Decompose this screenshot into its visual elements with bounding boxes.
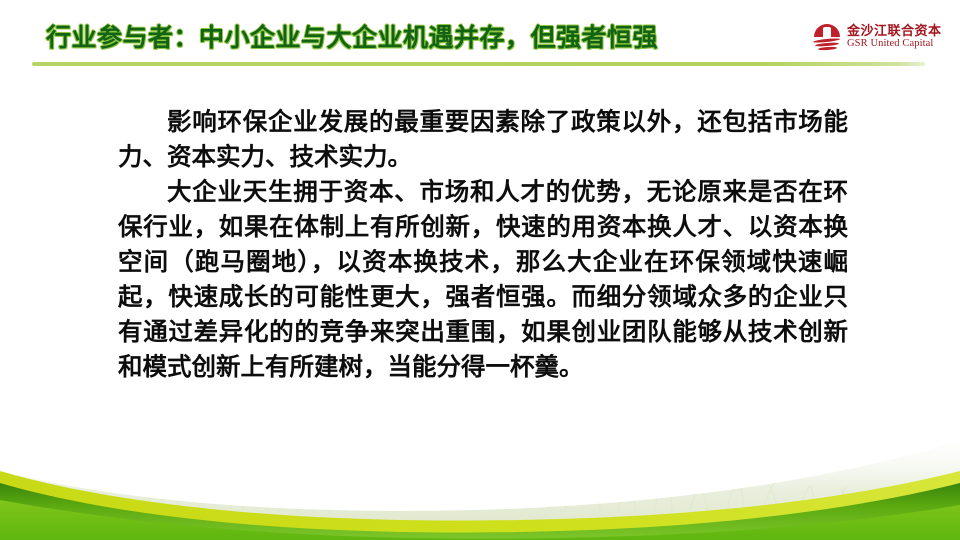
slide-body-text: 影响环保企业发展的最重要因素除了政策以外，还包括市场能力、资本实力、技术实力。 … bbox=[118, 104, 848, 384]
logo-wordmark: 金沙江联合资本 GSR United Capital bbox=[847, 25, 942, 50]
title-underline-rule bbox=[32, 62, 925, 66]
body-paragraph-1: 影响环保企业发展的最重要因素除了政策以外，还包括市场能力、资本实力、技术实力。 bbox=[118, 104, 848, 174]
gsr-sun-waves-logo-icon bbox=[812, 23, 842, 51]
company-logo: 金沙江联合资本 GSR United Capital bbox=[812, 20, 948, 54]
presentation-slide: 行业参与者：中小企业与大企业机遇并存，但强者恒强 金沙江联合资本 GSR Uni… bbox=[0, 0, 960, 540]
footer-decoration-svg bbox=[0, 405, 960, 540]
logo-chinese-name: 金沙江联合资本 bbox=[847, 25, 942, 39]
page-title: 行业参与者：中小企业与大企业机遇并存，但强者恒强 bbox=[46, 18, 658, 54]
logo-english-name: GSR United Capital bbox=[847, 38, 942, 49]
green-grass-wave-footer bbox=[0, 405, 960, 540]
body-paragraph-2: 大企业天生拥于资本、市场和人才的优势，无论原来是否在环保行业，如果在体制上有所创… bbox=[118, 174, 848, 384]
